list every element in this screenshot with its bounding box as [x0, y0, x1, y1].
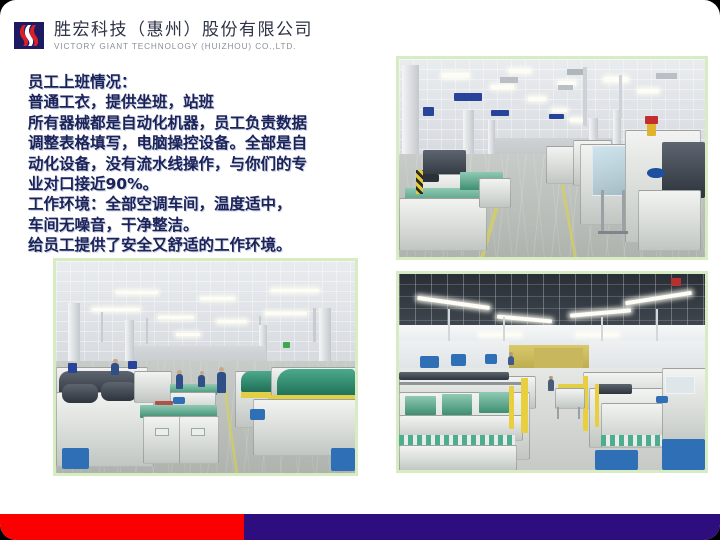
body-text-block: 员工上班情况： 普通工衣，提供坐班，站班 所有器械都是自动化机器，员工负责数据 … — [28, 72, 388, 256]
body-text-line-1: 员工上班情况： — [28, 72, 388, 92]
footer-purple-segment — [244, 514, 720, 540]
factory-photo-bottom-left — [53, 258, 358, 476]
footer-red-segment — [0, 514, 244, 540]
body-text-line-8: 车间无噪音，干净整洁。 — [28, 215, 388, 235]
slide-footer-bar — [0, 514, 720, 540]
body-text-line-6: 业对口接近90%。 — [28, 174, 388, 194]
company-name-cn: 胜宏科技（惠州）股份有限公司 — [54, 20, 313, 40]
body-text-line-5: 动化设备，没有流水线操作，与你们的专 — [28, 154, 388, 174]
slide-header: 胜宏科技（惠州）股份有限公司 VICTORY GIANT TECHNOLOGY … — [14, 20, 313, 53]
company-identity: 胜宏科技（惠州）股份有限公司 VICTORY GIANT TECHNOLOGY … — [54, 20, 313, 53]
factory-aisle-scene — [399, 59, 705, 257]
body-text-line-4: 调整表格填写，电脑操控设备。全部是自 — [28, 133, 388, 153]
production-line-scene — [56, 261, 355, 473]
factory-photo-bottom-right — [396, 271, 708, 473]
presentation-slide: 胜宏科技（惠州）股份有限公司 VICTORY GIANT TECHNOLOGY … — [0, 0, 720, 540]
body-text-line-9: 给员工提供了安全又舒适的工作环境。 — [28, 235, 388, 255]
body-text-line-3: 所有器械都是自动化机器，员工负责数据 — [28, 113, 388, 133]
factory-photo-top-right — [396, 56, 708, 260]
cleanroom-line-scene — [399, 274, 705, 470]
body-text-line-2: 普通工衣，提供坐班，站班 — [28, 92, 388, 112]
victory-giant-logo-icon — [14, 22, 44, 49]
body-text-line-7: 工作环境：全部空调车间，温度适中， — [28, 194, 388, 214]
company-name-en: VICTORY GIANT TECHNOLOGY (HUIZHOU) CO.,L… — [54, 41, 313, 53]
